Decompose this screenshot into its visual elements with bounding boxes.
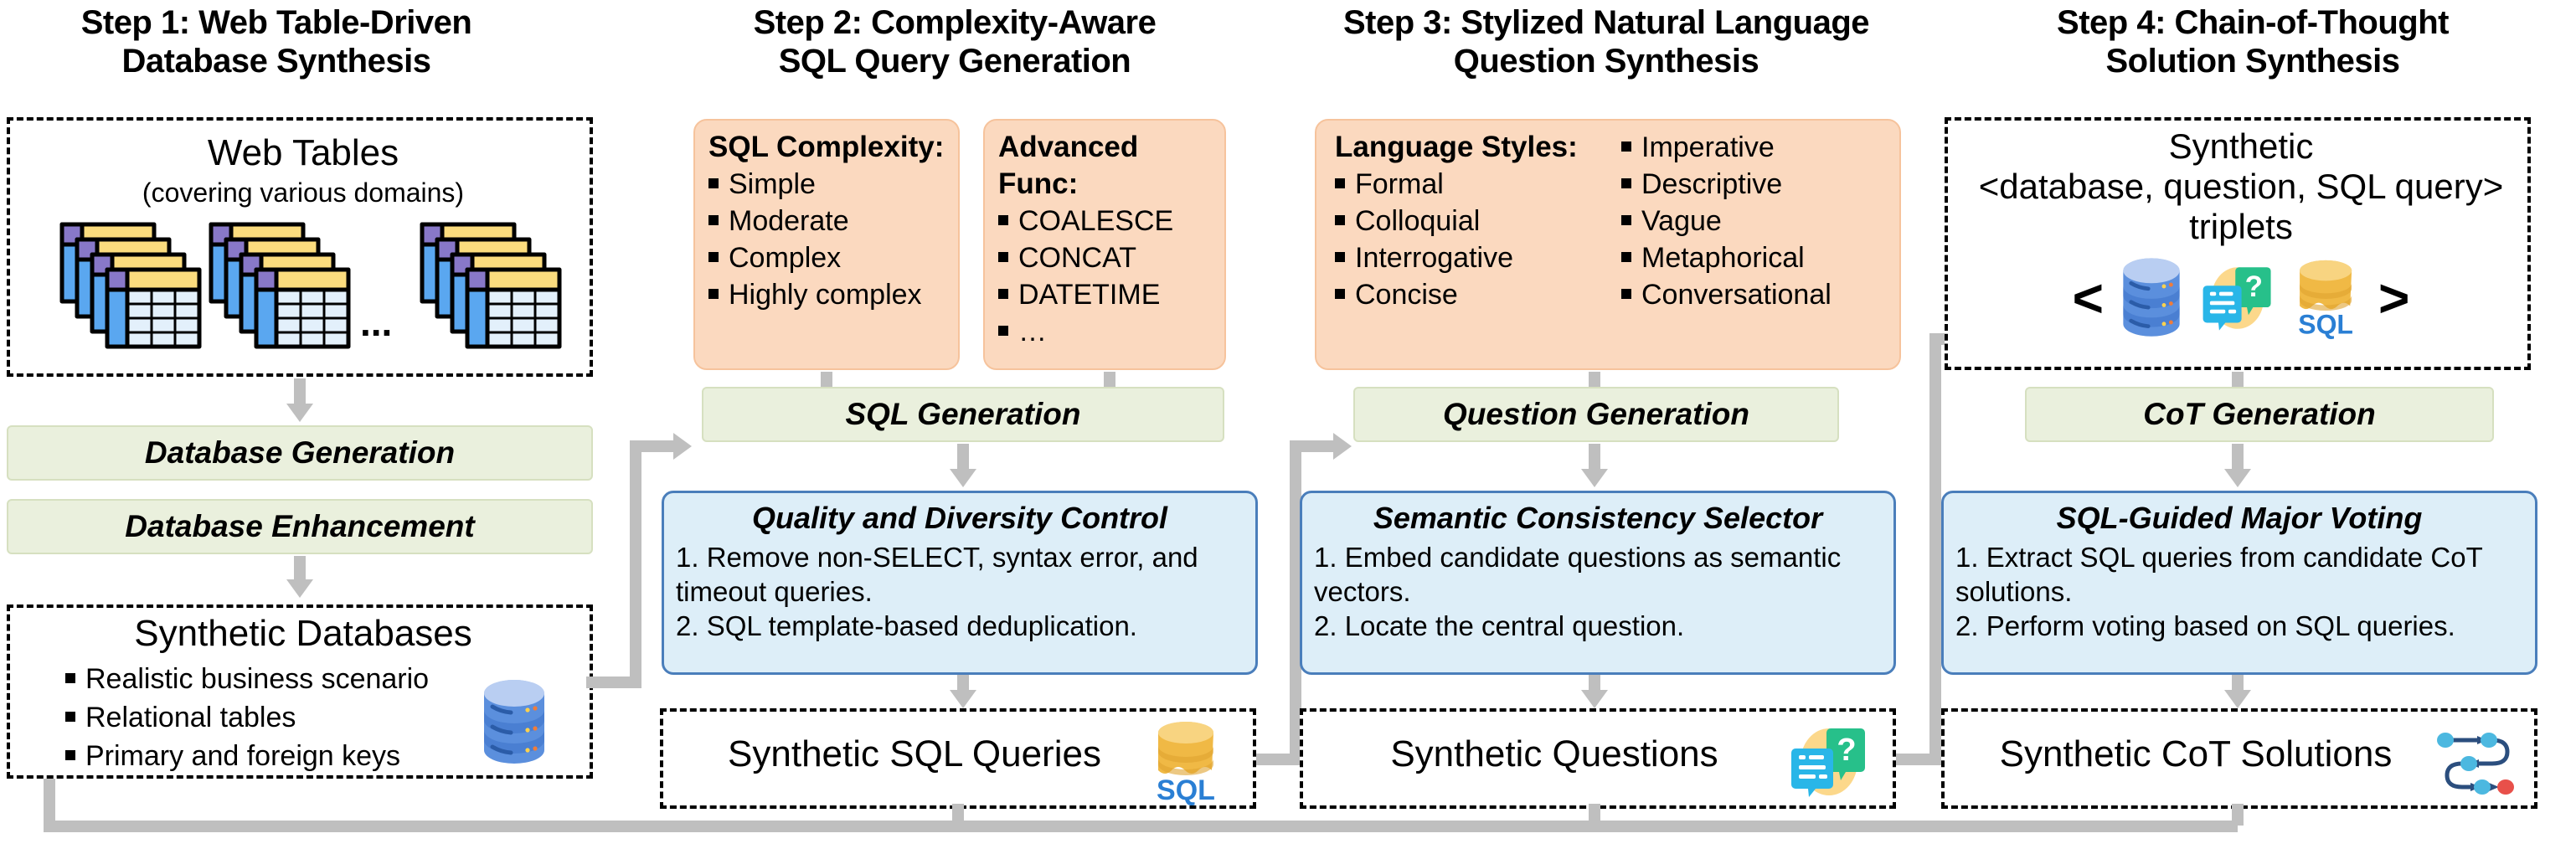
- list-item: Simple: [708, 166, 945, 203]
- column-title-step-1: Step 1: Web Table-Driven Database Synthe…: [8, 3, 544, 80]
- step-3-title-line-2: Question Synthesis: [1280, 42, 1933, 80]
- list-item: Vague: [1621, 203, 1832, 239]
- arrow-head-icon: [286, 579, 313, 598]
- bullet-square-icon: [708, 215, 719, 225]
- arrow-head-icon: [2224, 690, 2251, 708]
- bullet-square-icon: [708, 252, 719, 262]
- question-bubble-icon: ?: [1787, 722, 1871, 802]
- arrow-cotgen-to-voting: [2232, 444, 2244, 469]
- bullet-square-icon: [1621, 289, 1631, 299]
- arrow-web-tables-to-db-gen: [294, 378, 306, 404]
- list-item: Conversational: [1621, 276, 1832, 313]
- step-4-title-line-2: Solution Synthesis: [1960, 42, 2546, 80]
- list-item: Relational tables: [65, 698, 429, 737]
- question-bubble-icon: ?: [2199, 258, 2276, 338]
- bullet-square-icon: [1335, 178, 1345, 188]
- list-item: 1. Extract SQL queries from candidate Co…: [1955, 540, 2523, 609]
- list-item: Formal: [1335, 166, 1591, 203]
- bullet-square-icon: [1621, 215, 1631, 225]
- step-4-title-line-1: Step 4: Chain-of-Thought: [1960, 3, 2546, 42]
- step-3-title-line-1: Step 3: Stylized Natural Language: [1280, 3, 1933, 42]
- bullet-square-icon: [65, 712, 75, 722]
- synthetic-databases-list: Realistic business scenario Relational t…: [65, 660, 429, 775]
- bullet-square-icon: [1621, 252, 1631, 262]
- sql-complexity-panel: SQL Complexity: Simple Moderate Complex …: [693, 119, 960, 370]
- sql-complexity-heading: SQL Complexity:: [708, 129, 945, 166]
- arrow-head-icon: [950, 469, 976, 487]
- arrow-db-enh-to-synth-db: [294, 556, 306, 579]
- column-title-step-2: Step 2: Complexity-Aware SQL Query Gener…: [662, 3, 1248, 80]
- process-cot-generation: CoT Generation: [2025, 387, 2494, 442]
- synthetic-sql-queries-box: Synthetic SQL Queries SQL: [660, 708, 1256, 809]
- arrow-head-icon: [1333, 433, 1352, 460]
- arrow-head-icon: [1581, 690, 1608, 708]
- web-tables-box: Web Tables (covering various domains): [7, 117, 593, 377]
- list-item: 1. Remove non-SELECT, syntax error, and …: [676, 540, 1244, 609]
- bullet-square-icon: [65, 673, 75, 683]
- column-title-step-4: Step 4: Chain-of-Thought Solution Synthe…: [1960, 3, 2546, 80]
- list-item: 2. Locate the central question.: [1314, 609, 1882, 643]
- bullet-square-icon: [65, 750, 75, 760]
- synthetic-sql-queries-heading: Synthetic SQL Queries: [697, 735, 1132, 774]
- feedback-rail-riser-col2: [952, 804, 964, 826]
- list-item: DATETIME: [998, 276, 1211, 313]
- feedback-rail-horizontal: [44, 821, 2238, 832]
- angle-bracket-close: >: [2378, 271, 2409, 325]
- web-tables-subheading: (covering various domains): [10, 177, 596, 208]
- synthetic-cot-solutions-box: Synthetic CoT Solutions: [1941, 708, 2537, 809]
- connector-synthdb-to-sqlgen-horizontal: [586, 677, 641, 688]
- cot-flow-icon: [2434, 727, 2516, 799]
- sql-cylinder-icon: SQL: [1146, 718, 1229, 805]
- synthetic-questions-heading: Synthetic Questions: [1337, 735, 1772, 774]
- step-1-title-line-1: Step 1: Web Table-Driven: [8, 3, 544, 42]
- svg-text:SQL: SQL: [1157, 774, 1215, 806]
- list-item: Highly complex: [708, 276, 945, 313]
- connector-to-sqlgen-arrow-line: [630, 440, 673, 452]
- advanced-func-heading: Advanced Func:: [998, 129, 1211, 203]
- arrow-questiongen-to-semantic: [1589, 444, 1600, 469]
- synthetic-databases-box: Synthetic Databases Realistic business s…: [7, 604, 593, 779]
- bullet-square-icon: [1335, 215, 1345, 225]
- feedback-rail-riser-col4: [2232, 804, 2244, 826]
- arrow-head-icon: [2224, 469, 2251, 487]
- list-item: Complex: [708, 239, 945, 276]
- list-item: Metaphorical: [1621, 239, 1832, 276]
- bullet-square-icon: [998, 215, 1008, 225]
- web-tables-ellipsis: ...: [360, 303, 392, 342]
- semantic-consistency-selector-box: Semantic Consistency Selector 1. Embed c…: [1300, 491, 1896, 675]
- list-item: Descriptive: [1621, 166, 1832, 203]
- triplets-line-1: Synthetic: [1948, 127, 2534, 166]
- advanced-func-panel: Advanced Func: COALESCE CONCAT DATETIME …: [983, 119, 1226, 370]
- list-item: 1. Embed candidate questions as semantic…: [1314, 540, 1882, 609]
- synthetic-cot-solutions-heading: Synthetic CoT Solutions: [1970, 735, 2422, 774]
- arrow-head-icon: [950, 690, 976, 708]
- web-table-stack-icon: [420, 223, 559, 357]
- svg-text:SQL: SQL: [2298, 309, 2353, 339]
- bullet-square-icon: [708, 289, 719, 299]
- web-table-stack-icon: [209, 223, 348, 357]
- bullet-square-icon: [998, 252, 1008, 262]
- connector-questions-up: [1929, 333, 1941, 765]
- connector-to-questiongen: [1290, 440, 1333, 452]
- list-item: Realistic business scenario: [65, 660, 429, 698]
- arrow-head-icon: [286, 404, 313, 422]
- step-2-title-line-2: SQL Query Generation: [662, 42, 1248, 80]
- synthetic-questions-box: Synthetic Questions ?: [1300, 708, 1896, 809]
- bullet-square-icon: [998, 326, 1008, 336]
- semantic-box-title: Semantic Consistency Selector: [1314, 500, 1882, 537]
- bullet-square-icon: [708, 178, 719, 188]
- list-item: …: [998, 313, 1211, 350]
- svg-text:?: ?: [2245, 270, 2263, 303]
- list-item: Interrogative: [1335, 239, 1591, 276]
- arrow-sqlgen-to-quality: [957, 444, 969, 469]
- synthetic-databases-heading: Synthetic Databases: [10, 615, 596, 653]
- bullet-square-icon: [1335, 252, 1345, 262]
- quality-box-title: Quality and Diversity Control: [676, 500, 1244, 537]
- language-styles-heading: Language Styles:: [1335, 129, 1591, 166]
- list-item: Colloquial: [1335, 203, 1591, 239]
- bullet-square-icon: [1335, 289, 1345, 299]
- language-styles-panel: Language Styles: Formal Colloquial Inter…: [1315, 119, 1901, 370]
- bullet-square-icon: [1621, 178, 1631, 188]
- angle-bracket-open: <: [2073, 271, 2104, 325]
- list-item: Moderate: [708, 203, 945, 239]
- arrow-head-icon: [1581, 469, 1608, 487]
- web-table-stack-icon: [60, 223, 198, 357]
- process-database-generation: Database Generation: [7, 425, 593, 481]
- list-item: Concise: [1335, 276, 1591, 313]
- voting-box-title: SQL-Guided Major Voting: [1955, 500, 2523, 537]
- web-tables-heading: Web Tables: [10, 132, 596, 174]
- list-item: 2. SQL template-based deduplication.: [676, 609, 1244, 643]
- synthetic-triplets-box: Synthetic <database, question, SQL query…: [1945, 117, 2531, 370]
- process-question-generation: Question Generation: [1353, 387, 1839, 442]
- list-item: CONCAT: [998, 239, 1211, 276]
- connector-synthdb-to-sqlgen-vertical: [630, 440, 641, 688]
- list-item: Imperative: [1621, 129, 1832, 166]
- list-item: 2. Perform voting based on SQL queries.: [1955, 609, 2523, 643]
- sql-guided-major-voting-box: SQL-Guided Major Voting 1. Extract SQL q…: [1941, 491, 2537, 675]
- process-sql-generation: SQL Generation: [702, 387, 1224, 442]
- triplets-line-2: <database, question, SQL query>: [1948, 167, 2534, 206]
- database-cylinder-icon: [2115, 255, 2187, 342]
- list-item: COALESCE: [998, 203, 1211, 239]
- bullet-square-icon: [998, 289, 1008, 299]
- triplets-line-3: triplets: [1948, 208, 2534, 246]
- list-item: Primary and foreign keys: [65, 737, 429, 775]
- bullet-square-icon: [1621, 141, 1631, 152]
- database-cylinder-icon: [476, 677, 553, 769]
- arrow-head-icon: [673, 433, 692, 460]
- sql-cylinder-icon: SQL: [2288, 255, 2367, 342]
- step-1-title-line-2: Database Synthesis: [8, 42, 544, 80]
- step-2-title-line-1: Step 2: Complexity-Aware: [662, 3, 1248, 42]
- column-title-step-3: Step 3: Stylized Natural Language Questi…: [1280, 3, 1933, 80]
- feedback-rail-riser-col3: [1589, 804, 1600, 826]
- process-database-enhancement: Database Enhancement: [7, 499, 593, 554]
- quality-diversity-control-box: Quality and Diversity Control 1. Remove …: [662, 491, 1258, 675]
- svg-text:?: ?: [1837, 733, 1856, 768]
